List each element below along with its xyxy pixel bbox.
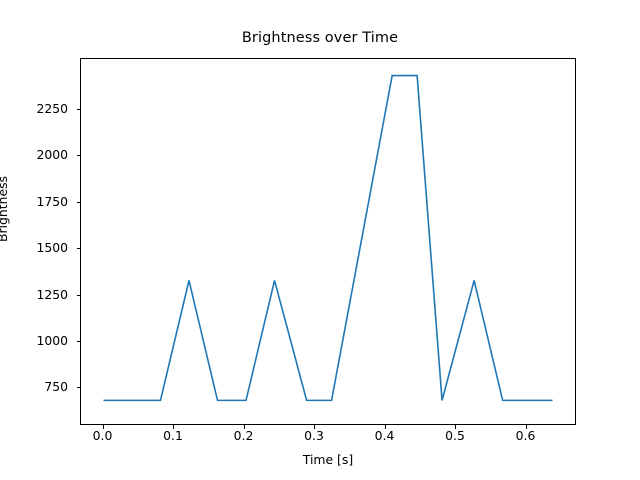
x-tick-label: 0.3 <box>284 430 344 442</box>
x-tick-label: 0.5 <box>425 430 485 442</box>
x-tick-label: 0.6 <box>496 430 556 442</box>
figure-canvas: Brightness over Time Brightness 750 1000… <box>0 0 640 480</box>
x-tick-label: 0.1 <box>143 430 203 442</box>
x-tick-label: 0.0 <box>73 430 133 442</box>
brightness-line <box>103 76 552 401</box>
plot-area <box>80 58 576 425</box>
x-tick-label: 0.4 <box>355 430 415 442</box>
x-axis-label: Time [s] <box>80 452 576 467</box>
data-plot <box>81 59 575 424</box>
x-tick-label: 0.2 <box>214 430 274 442</box>
